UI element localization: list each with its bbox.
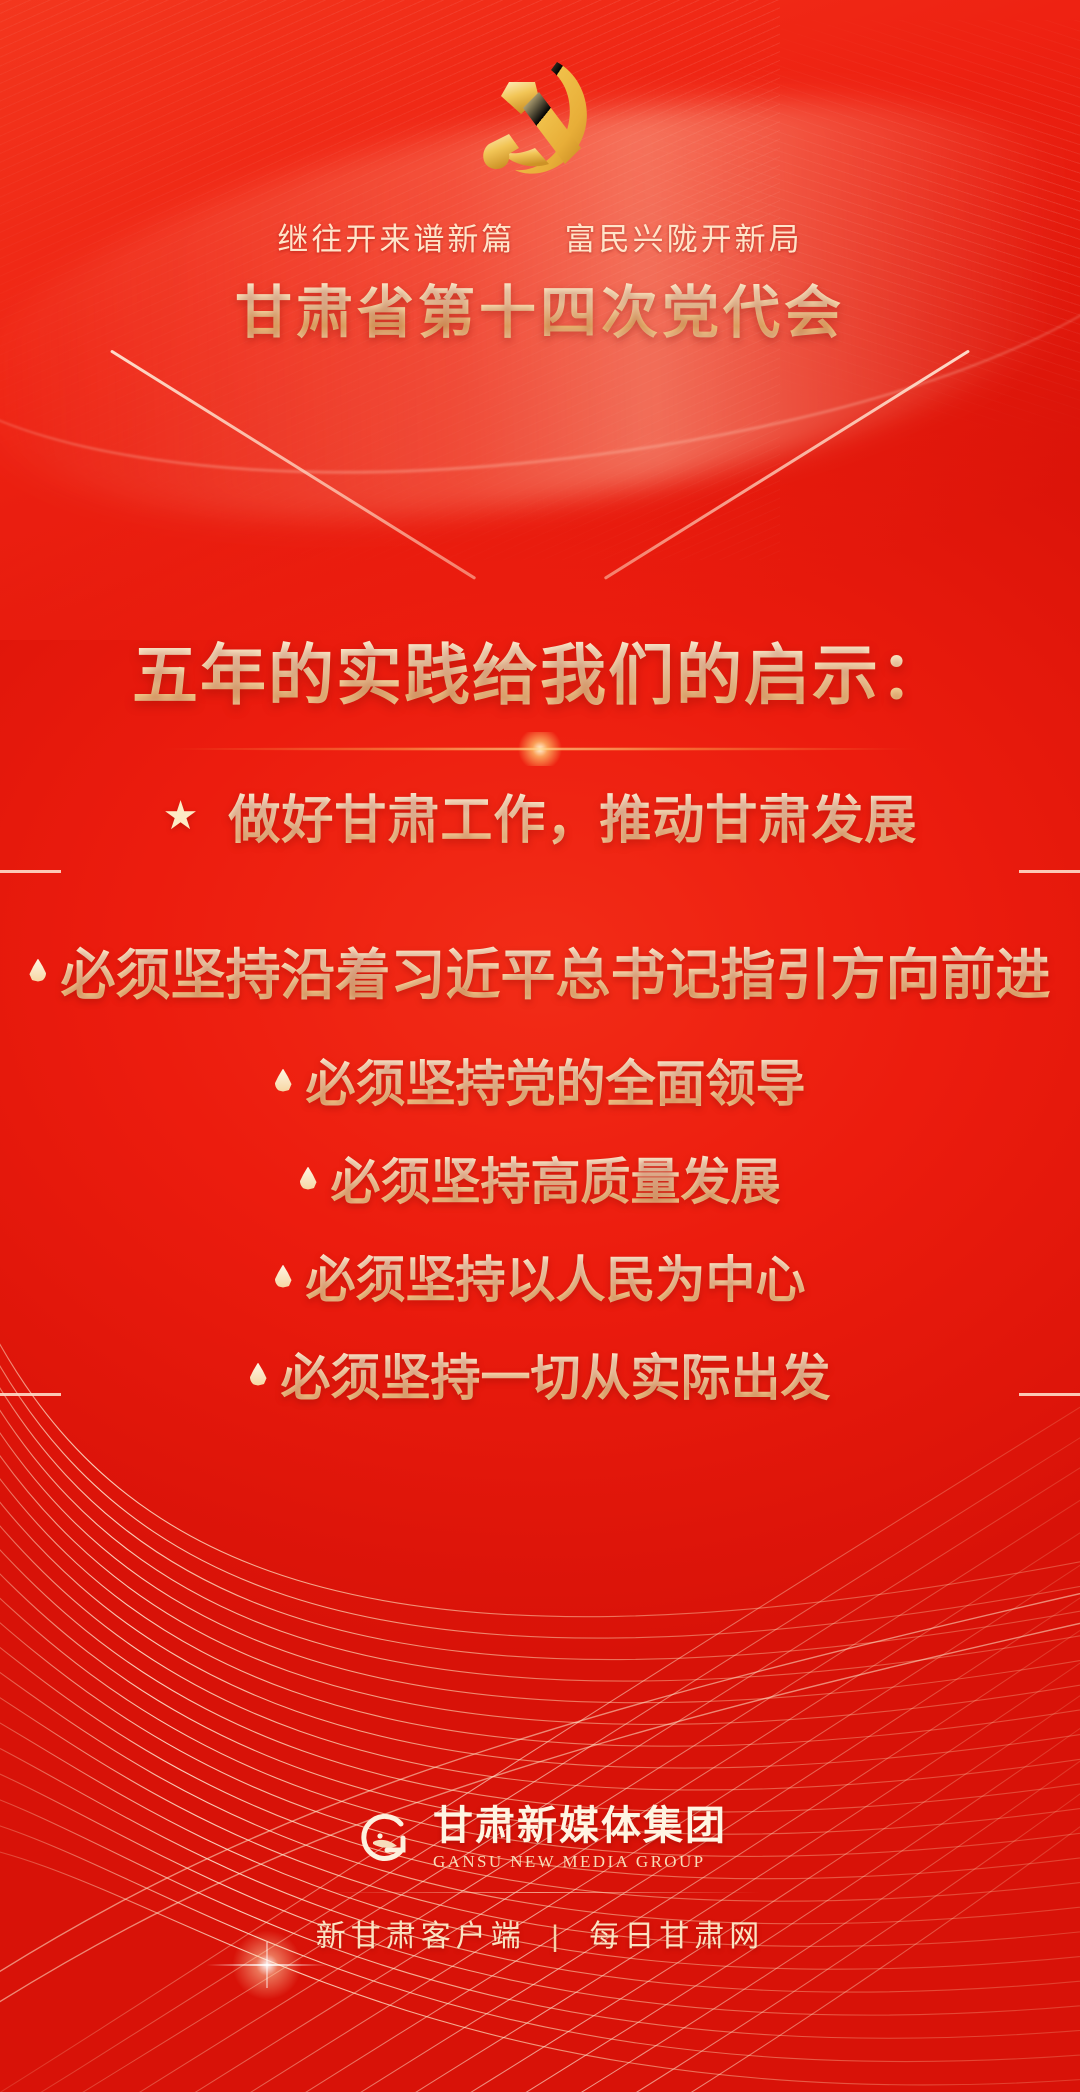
footer-divider (320, 1892, 760, 1893)
brand-row: 甘肃新媒体集团 GANSU NEW MEDIA GROUP (0, 1805, 1080, 1872)
kicker-left: 继往开来谱新篇 (277, 222, 515, 257)
list-item-label: 必须坚持以人民为中心 (306, 1240, 806, 1312)
kicker-right: 富民兴陇开新局 (565, 222, 803, 257)
poster-root: 继往开来谱新篇 富民兴陇开新局 甘肃省第十四次党代会 五年的实践给我们的启示： … (0, 0, 1080, 2092)
list-item-label: 必须坚持沿着习近平总书记指引方向前进 (60, 930, 1050, 1010)
brand-name-en: GANSU NEW MEDIA GROUP (433, 1852, 727, 1872)
main-headline: 五年的实践给我们的启示： (0, 622, 1080, 718)
site-app-label: 新甘肃客户端 (316, 1920, 526, 1953)
list-item-label: 必须坚持一切从实际出发 (281, 1338, 831, 1410)
list-item: 必须坚持以人民为中心 (0, 1240, 1080, 1312)
hammer-and-sickle-party-emblem (465, 52, 615, 192)
flame-bullet-icon (275, 1265, 292, 1288)
list-item: 必须坚持沿着习近平总书记指引方向前进 (0, 930, 1080, 1010)
list-item-label: 必须坚持高质量发展 (331, 1142, 781, 1214)
flame-bullet-icon (300, 1167, 317, 1190)
flame-bullet-icon (29, 959, 46, 982)
flame-bullet-icon (275, 1069, 292, 1092)
light-flare-divider (160, 732, 920, 766)
footer-sites: 新甘肃客户端 | 每日甘肃网 (0, 1911, 1080, 1955)
gansu-new-media-group-logo (353, 1808, 415, 1870)
conference-title: 甘肃省第十四次党代会 (0, 267, 1080, 349)
site-separator: | (551, 1920, 564, 1954)
list-item: 必须坚持高质量发展 (0, 1142, 1080, 1214)
list-item: 必须坚持党的全面领导 (0, 1044, 1080, 1116)
site-web-label: 每日甘肃网 (589, 1920, 764, 1953)
star-statement-row: ★ 做好甘肃工作，推动甘肃发展 (0, 778, 1080, 853)
flame-bullet-icon (250, 1363, 267, 1386)
star-icon: ★ (163, 796, 199, 836)
star-statement-text: 做好甘肃工作，推动甘肃发展 (228, 778, 917, 853)
list-item: 必须坚持一切从实际出发 (0, 1338, 1080, 1410)
kicker-slogan: 继往开来谱新篇 富民兴陇开新局 (0, 214, 1080, 259)
brand-text-block: 甘肃新媒体集团 GANSU NEW MEDIA GROUP (433, 1805, 727, 1872)
poster-header: 继往开来谱新篇 富民兴陇开新局 甘肃省第十四次党代会 (0, 0, 1080, 349)
poster-footer: 甘肃新媒体集团 GANSU NEW MEDIA GROUP 新甘肃客户端 | 每… (0, 1805, 1080, 1955)
list-item-label: 必须坚持党的全面领导 (306, 1044, 806, 1116)
bullet-list: 必须坚持沿着习近平总书记指引方向前进 必须坚持党的全面领导 必须坚持高质量发展 … (0, 930, 1080, 1436)
brand-name-cn: 甘肃新媒体集团 (433, 1805, 727, 1847)
